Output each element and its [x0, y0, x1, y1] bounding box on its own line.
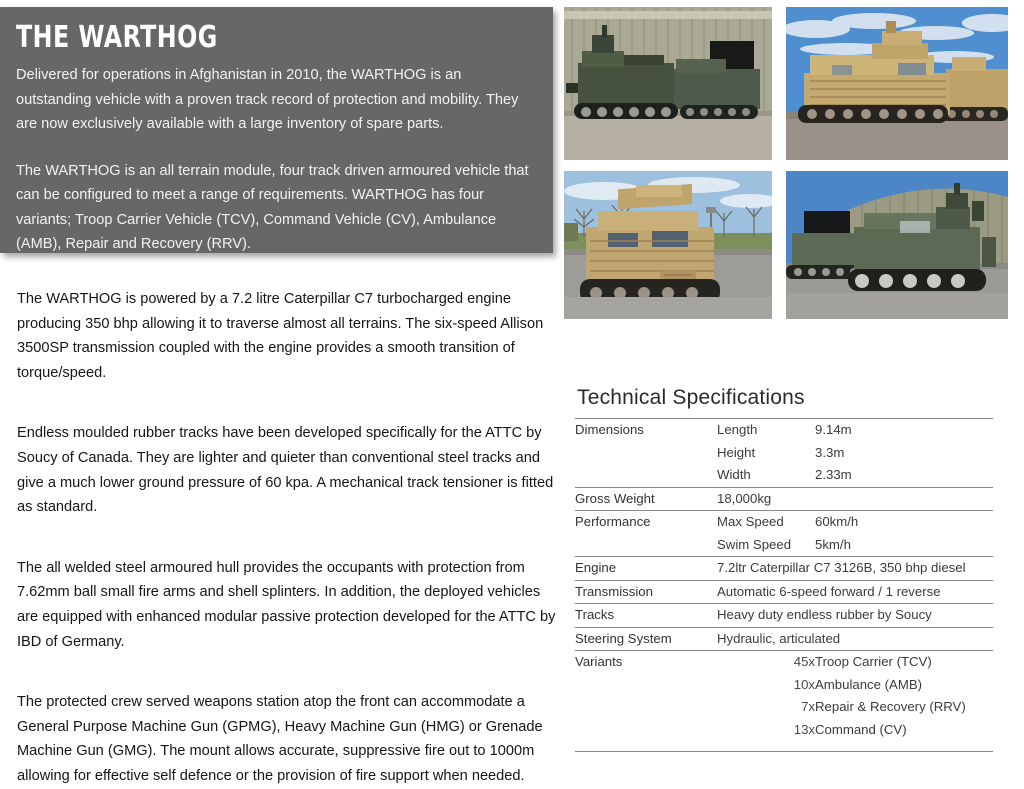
- body-paragraph-4: The protected crew served weapons statio…: [17, 690, 565, 788]
- spec-value: Hydraulic, articulated: [717, 627, 993, 651]
- table-row-variants: Variants 45x Troop Carrier (TCV): [575, 651, 993, 674]
- spec-sub: Height: [717, 442, 815, 465]
- hero-paragraph-1: Delivered for operations in Afghanistan …: [16, 63, 537, 137]
- photo-green-warthog-with-weapon-station: [786, 171, 1008, 319]
- variant-name: Troop Carrier (TCV): [815, 651, 993, 674]
- page-title: THE WARTHOG: [16, 21, 474, 55]
- spec-value: 7.2ltr Caterpillar C7 3126B, 350 bhp die…: [717, 557, 993, 581]
- spec-label: [575, 442, 717, 465]
- variant-count: 45x: [717, 651, 815, 674]
- spec-label: [575, 464, 717, 487]
- table-row: Gross Weight 18,000kg: [575, 487, 993, 511]
- specs-table: Dimensions Length 9.14m Height 3.3m Widt…: [575, 418, 993, 752]
- photo-desert-warthog-convoy: [786, 7, 1008, 160]
- table-row-variants: 7x Repair & Recovery (RRV): [575, 696, 993, 719]
- variant-name: Repair & Recovery (RRV): [815, 696, 993, 719]
- variant-count: 10x: [717, 674, 815, 697]
- specs-heading: Technical Specifications: [577, 386, 993, 410]
- spec-value: 2.33m: [815, 464, 993, 487]
- table-row-variants: 13x Command (CV): [575, 719, 993, 742]
- table-row: Steering System Hydraulic, articulated: [575, 627, 993, 651]
- spec-value: 5km/h: [815, 534, 993, 557]
- hero-paragraph-2: The WARTHOG is an all terrain module, fo…: [16, 159, 537, 257]
- spec-label: Engine: [575, 557, 717, 581]
- spec-value: 18,000kg: [717, 487, 993, 511]
- spec-label: Gross Weight: [575, 487, 717, 511]
- variant-name: Ambulance (AMB): [815, 674, 993, 697]
- spec-label: Variants: [575, 651, 717, 674]
- spec-value: 3.3m: [815, 442, 993, 465]
- spec-label: Performance: [575, 511, 717, 534]
- variant-count: 7x: [717, 696, 815, 719]
- table-row: Swim Speed 5km/h: [575, 534, 993, 557]
- table-row: Tracks Heavy duty endless rubber by Souc…: [575, 604, 993, 628]
- table-row: Performance Max Speed 60km/h: [575, 511, 993, 534]
- spec-label: Transmission: [575, 580, 717, 604]
- body-paragraph-2: Endless moulded rubber tracks have been …: [17, 421, 565, 519]
- photo-gallery: [564, 7, 1008, 319]
- body-paragraph-3: The all welded steel armoured hull provi…: [17, 556, 565, 654]
- table-row-variants: 10x Ambulance (AMB): [575, 674, 993, 697]
- body-copy: The WARTHOG is powered by a 7.2 litre Ca…: [17, 287, 565, 789]
- table-row: Engine 7.2ltr Caterpillar C7 3126B, 350 …: [575, 557, 993, 581]
- spec-value: 60km/h: [815, 511, 993, 534]
- variant-name: Command (CV): [815, 719, 993, 742]
- spec-sub: Length: [717, 419, 815, 442]
- photo-green-warthog-beside-building: [564, 7, 772, 160]
- spec-label: Dimensions: [575, 419, 717, 442]
- table-row: Dimensions Length 9.14m: [575, 419, 993, 442]
- spec-value: Heavy duty endless rubber by Soucy: [717, 604, 993, 628]
- spec-sub: Max Speed: [717, 511, 815, 534]
- table-row: Width 2.33m: [575, 464, 993, 487]
- spec-sub: Swim Speed: [717, 534, 815, 557]
- variant-count: 13x: [717, 719, 815, 742]
- spec-value: Automatic 6-speed forward / 1 reverse: [717, 580, 993, 604]
- spec-label: Steering System: [575, 627, 717, 651]
- table-bottom-rule: [575, 741, 993, 752]
- spec-label: Tracks: [575, 604, 717, 628]
- photo-desert-warthog-front-view: [564, 171, 772, 319]
- technical-specifications: Technical Specifications Dimensions Leng…: [575, 386, 993, 752]
- hero-panel: THE WARTHOG Delivered for operations in …: [0, 7, 553, 253]
- spec-value: 9.14m: [815, 419, 993, 442]
- body-paragraph-1: The WARTHOG is powered by a 7.2 litre Ca…: [17, 287, 565, 385]
- table-row: Transmission Automatic 6-speed forward /…: [575, 580, 993, 604]
- spec-sub: Width: [717, 464, 815, 487]
- table-row: Height 3.3m: [575, 442, 993, 465]
- spec-label: [575, 534, 717, 557]
